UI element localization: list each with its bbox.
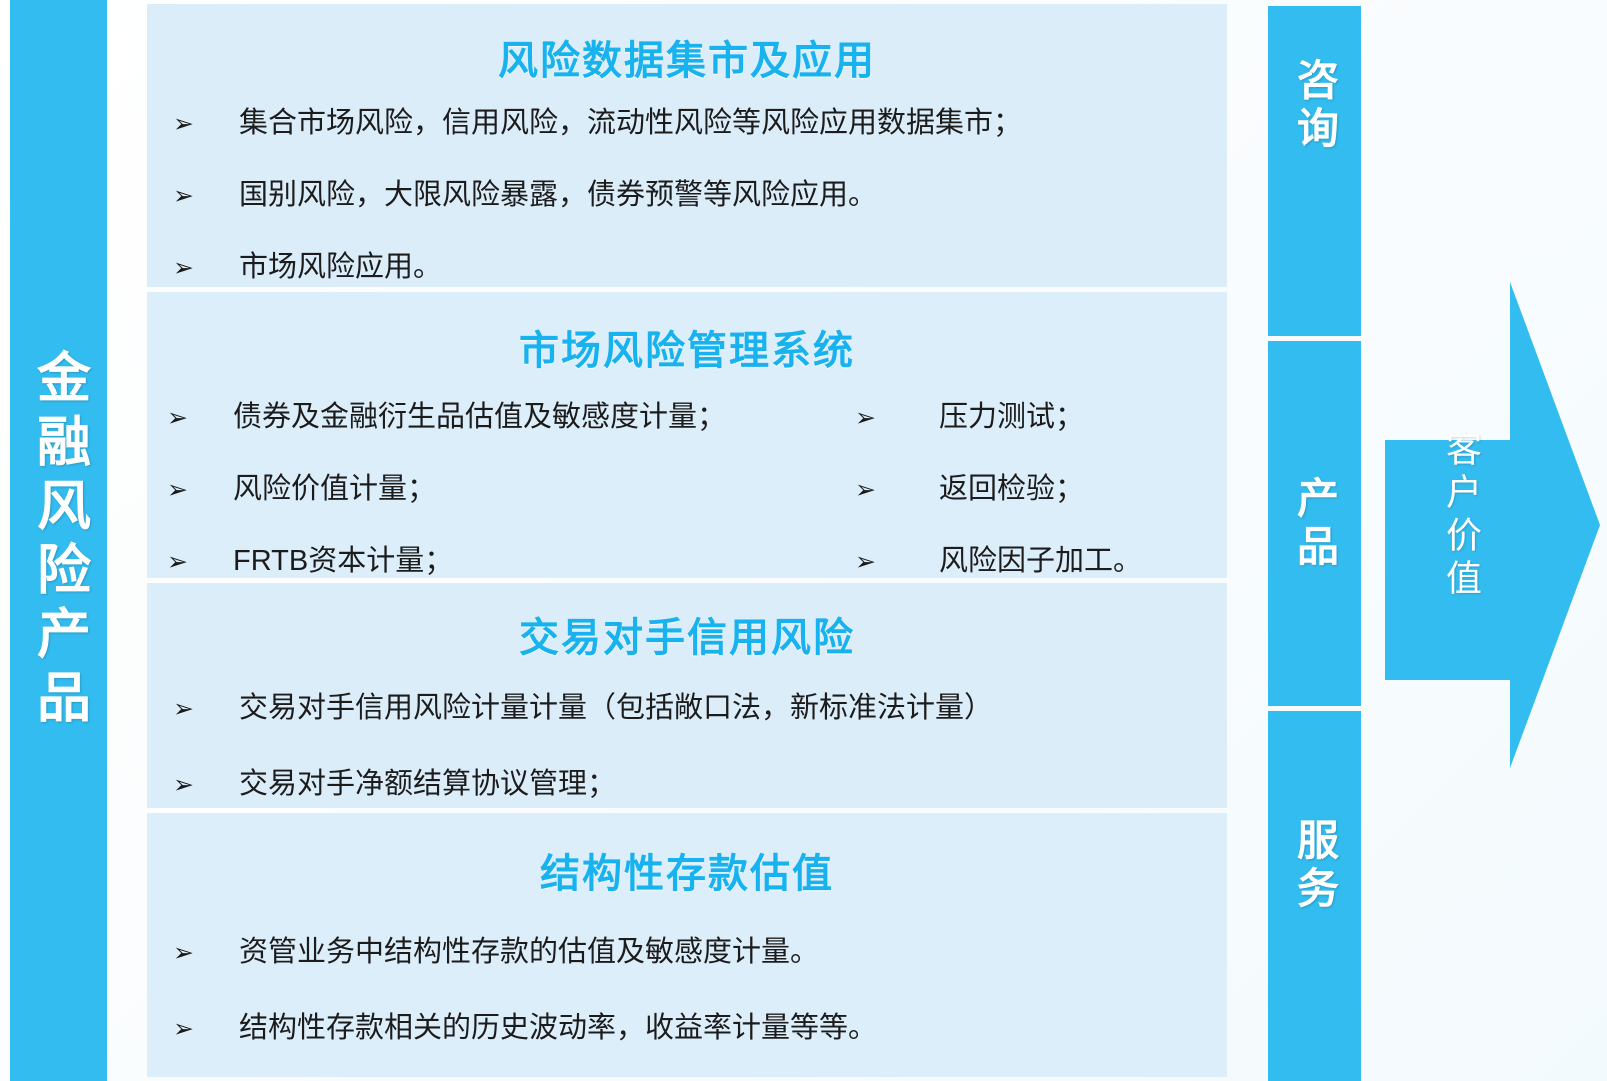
bullet-list: ➢ 资管业务中结构性存款的估值及敏感度计量。 ➢ 结构性存款相关的历史波动率，收…: [147, 937, 1227, 1045]
list-item-text: 风险因子加工。: [939, 546, 1227, 578]
list-item-text: FRTB资本计量；: [233, 546, 847, 578]
list-item-text: 风险价值计量；: [233, 474, 847, 506]
bullet-arrow-icon: ➢: [165, 940, 239, 968]
list-item: ➢ 压力测试；: [847, 402, 1227, 434]
bullet-arrow-icon: ➢: [159, 549, 233, 577]
list-item-text: 债券及金融衍生品估值及敏感度计量；: [233, 402, 847, 434]
panel-counterparty-credit-risk: 交易对手信用风险 ➢ 交易对手信用风险计量计量（包括敞口法，新标准法计量） ➢ …: [147, 583, 1227, 808]
list-item: ➢ FRTB资本计量；: [159, 546, 847, 578]
stage-label: 咨询: [1294, 58, 1336, 154]
stage-label: 产品: [1294, 476, 1336, 572]
bullet-arrow-icon: ➢: [847, 405, 939, 433]
list-item-text: 结构性存款相关的历史波动率，收益率计量等等。: [239, 1013, 1227, 1045]
bullet-arrow-icon: ➢: [165, 111, 239, 139]
stage-column: 咨询 产品 服务: [1268, 0, 1361, 1081]
bullet-list: ➢ 交易对手信用风险计量计量（包括敞口法，新标准法计量） ➢ 交易对手净额结算协…: [147, 693, 1227, 801]
slide-canvas: 金融风险产品 风险数据集市及应用 ➢ 集合市场风险，信用风险，流动性风险等风险应…: [0, 0, 1607, 1081]
bullet-arrow-icon: ➢: [847, 477, 939, 505]
list-item-text: 压力测试；: [939, 402, 1227, 434]
bullet-arrow-icon: ➢: [847, 549, 939, 577]
list-item: ➢ 交易对手信用风险计量计量（包括敞口法，新标准法计量）: [147, 693, 1227, 725]
left-category-bar: 金融风险产品: [10, 0, 107, 1081]
list-item-text: 集合市场风险，信用风险，流动性风险等风险应用数据集市；: [239, 108, 1227, 140]
list-item-text: 交易对手信用风险计量计量（包括敞口法，新标准法计量）: [239, 693, 1227, 725]
panel-market-risk-system: 市场风险管理系统 ➢ 债券及金融衍生品估值及敏感度计量； ➢ 风险价值计量； ➢…: [147, 292, 1227, 578]
list-item-text: 资管业务中结构性存款的估值及敏感度计量。: [239, 937, 1227, 969]
list-item: ➢ 返回检验；: [847, 474, 1227, 506]
list-item-text: 交易对手净额结算协议管理；: [239, 769, 1227, 801]
left-category-label: 金融风险产品: [32, 349, 86, 733]
stage-consulting: 咨询: [1268, 6, 1361, 336]
list-item: ➢ 国别风险，大限风险暴露，债券预警等风险应用。: [147, 180, 1227, 212]
list-item: ➢ 市场风险应用。: [147, 252, 1227, 284]
bullet-arrow-icon: ➢: [165, 772, 239, 800]
bullet-arrow-icon: ➢: [159, 405, 233, 433]
list-item: ➢ 集合市场风险，信用风险，流动性风险等风险应用数据集市；: [147, 108, 1227, 140]
list-item: ➢ 交易对手净额结算协议管理；: [147, 769, 1227, 801]
bullet-arrow-icon: ➢: [165, 696, 239, 724]
customer-value-label: 客户价值: [1443, 430, 1479, 602]
stage-label: 服务: [1294, 818, 1336, 914]
bullet-arrow-icon: ➢: [159, 477, 233, 505]
bullet-arrow-icon: ➢: [165, 255, 239, 283]
list-item: ➢ 风险价值计量；: [159, 474, 847, 506]
panel-risk-data-mart: 风险数据集市及应用 ➢ 集合市场风险，信用风险，流动性风险等风险应用数据集市； …: [147, 4, 1227, 287]
panel-title: 交易对手信用风险: [147, 583, 1227, 663]
panel-title: 市场风险管理系统: [147, 292, 1227, 376]
panel-title: 风险数据集市及应用: [147, 4, 1227, 86]
list-item: ➢ 资管业务中结构性存款的估值及敏感度计量。: [147, 937, 1227, 969]
arrow-right-icon: [1385, 280, 1607, 770]
list-item-text: 国别风险，大限风险暴露，债券预警等风险应用。: [239, 180, 1227, 212]
panel-title: 结构性存款估值: [147, 813, 1227, 899]
bullet-arrow-icon: ➢: [165, 1016, 239, 1044]
list-item: ➢ 风险因子加工。: [847, 546, 1227, 578]
panel-structured-deposit-valuation: 结构性存款估值 ➢ 资管业务中结构性存款的估值及敏感度计量。 ➢ 结构性存款相关…: [147, 813, 1227, 1077]
stage-product: 产品: [1268, 341, 1361, 706]
list-item: ➢ 债券及金融衍生品估值及敏感度计量；: [159, 402, 847, 434]
bullet-arrow-icon: ➢: [165, 183, 239, 211]
bullet-list: ➢ 集合市场风险，信用风险，流动性风险等风险应用数据集市； ➢ 国别风险，大限风…: [147, 108, 1227, 284]
stage-service: 服务: [1268, 711, 1361, 1081]
list-item: ➢ 结构性存款相关的历史波动率，收益率计量等等。: [147, 1013, 1227, 1045]
list-item-text: 返回检验；: [939, 474, 1227, 506]
list-item-text: 市场风险应用。: [239, 252, 1227, 284]
customer-value-arrow: 客户价值: [1385, 280, 1607, 770]
panel-stack: 风险数据集市及应用 ➢ 集合市场风险，信用风险，流动性风险等风险应用数据集市； …: [147, 0, 1227, 1081]
